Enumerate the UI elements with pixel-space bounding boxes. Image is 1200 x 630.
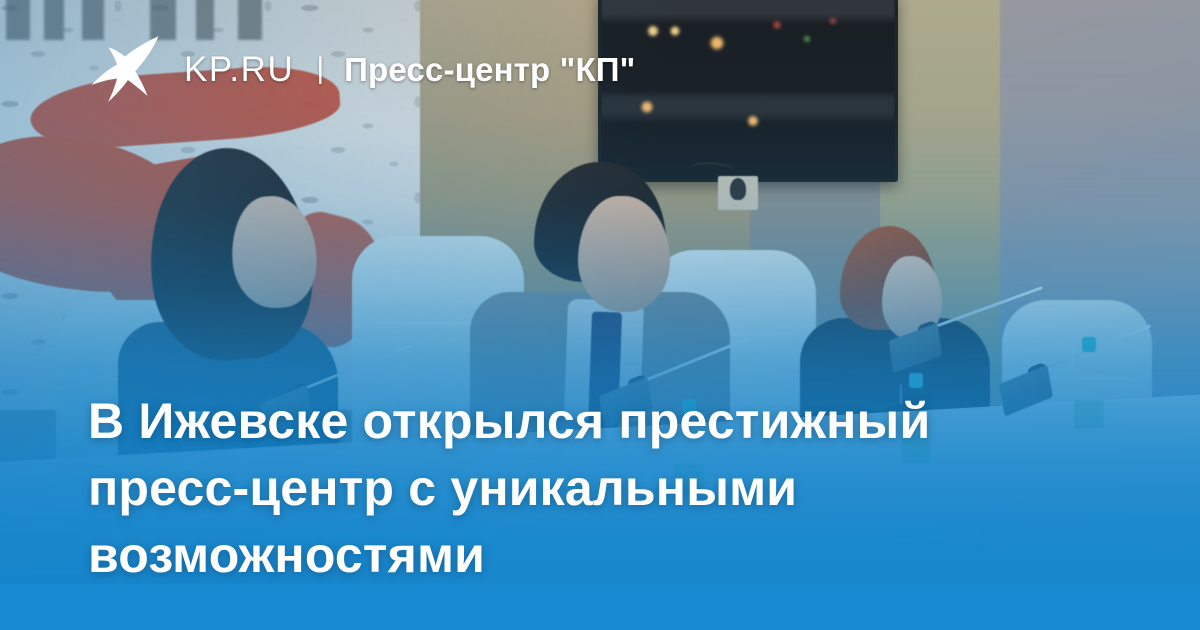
headline-line-3: возможностями bbox=[88, 522, 1098, 589]
headline-line-2: пресс-центр с уникальными bbox=[88, 455, 1098, 522]
header: KP.RU | Пресс-центр "КП" bbox=[88, 34, 635, 104]
kp-swallow-bird-logo-icon[interactable] bbox=[88, 34, 162, 104]
share-card: KP.RU | Пресс-центр "КП" В Ижевске откры… bbox=[0, 0, 1200, 630]
bottom-blue-bar bbox=[0, 584, 1200, 630]
header-separator: | bbox=[316, 54, 324, 84]
subbrand-label[interactable]: Пресс-центр "КП" bbox=[344, 53, 635, 86]
brand-label[interactable]: KP.RU bbox=[184, 52, 294, 87]
headline: В Ижевске открылся престижный пресс-цент… bbox=[88, 388, 1098, 589]
headline-line-1: В Ижевске открылся престижный bbox=[88, 388, 1098, 455]
